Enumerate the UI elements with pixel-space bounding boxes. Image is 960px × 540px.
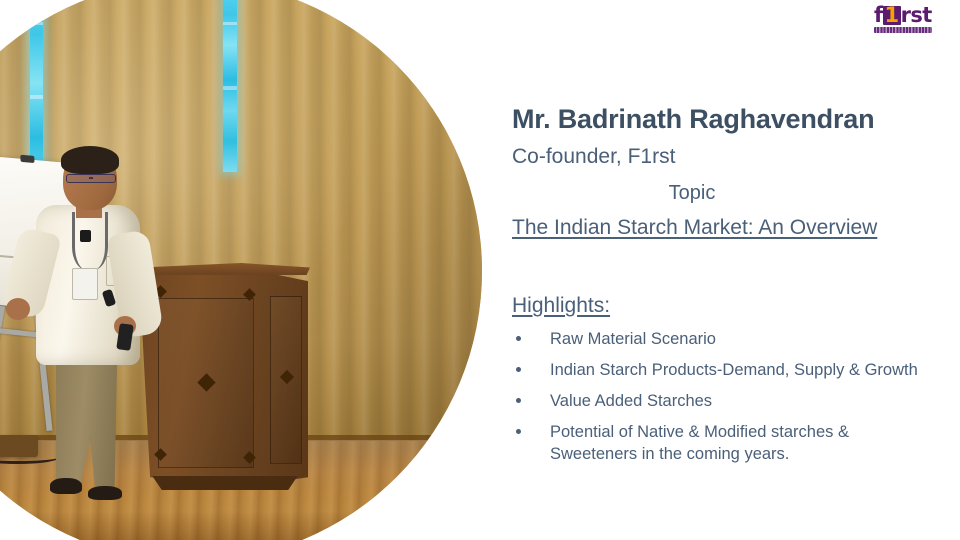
first-logo: f1rst (874, 6, 936, 36)
speaker-shoe (50, 478, 82, 494)
list-item: Indian Starch Products-Demand, Supply & … (512, 359, 932, 381)
window-light-strip-right (223, 0, 237, 172)
list-item: Potential of Native & Modified starches … (512, 421, 932, 465)
speaker-name: Mr. Badrinath Raghavendran (512, 104, 874, 135)
topic-label: Topic (512, 182, 872, 205)
logo-text-after: rst (901, 3, 932, 27)
speaker-role: Co-founder, F1rst (512, 145, 675, 169)
list-item: Value Added Starches (512, 390, 932, 412)
photo-scene (0, 0, 482, 540)
logo-tagline-bar (874, 27, 932, 33)
speaker-badge (72, 268, 98, 300)
topic-title: The Indian Starch Market: An Overview (512, 216, 877, 240)
logo-wordmark: f1rst (874, 6, 936, 25)
logo-text-before: f (874, 3, 883, 27)
flipchart-clip (20, 155, 34, 163)
lapel-microphone (80, 230, 91, 242)
speaker-glasses (66, 174, 116, 183)
speaker-photo (0, 0, 482, 540)
speaker-shoe (88, 486, 122, 500)
podium-base (146, 476, 304, 490)
speaker-hand-left (6, 298, 30, 320)
slide-text-content: Mr. Badrinath Raghavendran Co-founder, F… (512, 0, 936, 540)
presentation-slide: Mr. Badrinath Raghavendran Co-founder, F… (0, 0, 960, 540)
list-item: Raw Material Scenario (512, 328, 932, 350)
highlights-label: Highlights: (512, 294, 610, 318)
speaker-hair (61, 146, 119, 174)
highlights-list: Raw Material Scenario Indian Starch Prod… (512, 328, 932, 474)
logo-highlight-one: 1 (883, 6, 901, 25)
